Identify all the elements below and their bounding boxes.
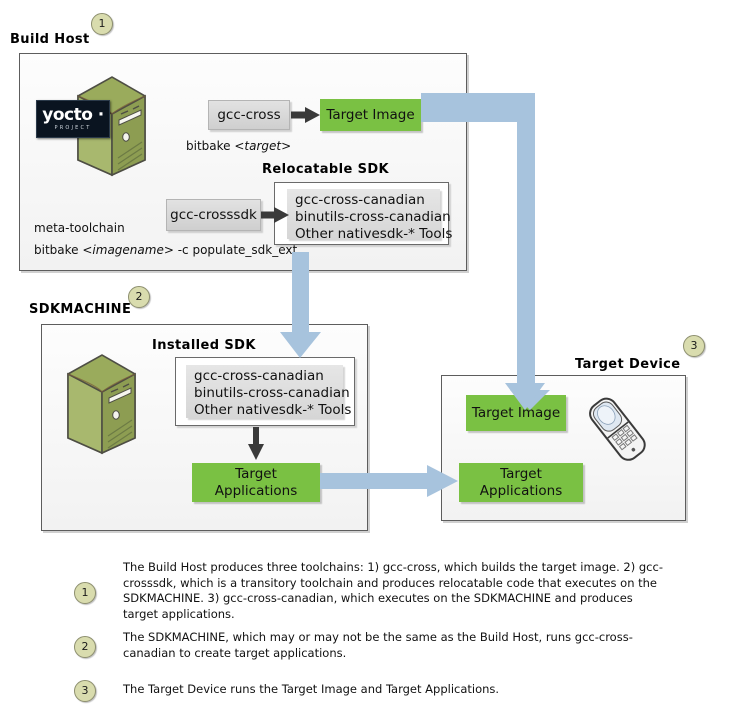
legend-badge-3: 3 — [74, 680, 96, 702]
legend-text-3: The Target Device runs the Target Image … — [123, 682, 678, 698]
badge-1-build-host: 1 — [91, 13, 113, 35]
bitbake-populate-caption: bitbake <imagename> -c populate_sdk_ext — [34, 243, 297, 257]
legend-badge-2: 2 — [74, 636, 96, 658]
yocto-logo-word: yocto · — [42, 107, 104, 124]
target-applications-box-device: Target Applications — [459, 463, 583, 502]
badge-2-sdkmachine: 2 — [128, 286, 150, 308]
target-device-title: Target Device — [575, 357, 681, 372]
diagram-canvas: Build Host 1 yocto · PROJECT gcc-cross T… — [0, 0, 730, 723]
bitbake-populate-italic: <imagename> — [82, 243, 174, 257]
installed-sdk-title: Installed SDK — [152, 338, 256, 353]
bitbake-populate-prefix: bitbake — [34, 243, 82, 257]
target-applications-box-sdkmachine: Target Applications — [192, 463, 320, 502]
yocto-logo-subtitle: PROJECT — [54, 125, 91, 132]
yocto-project-logo: yocto · PROJECT — [36, 100, 110, 138]
relocatable-sdk-list: gcc-cross-canadian binutils-cross-canadi… — [287, 189, 440, 239]
legend-text-1: The Build Host produces three toolchains… — [123, 560, 668, 622]
bitbake-target-caption: bitbake <target> — [186, 139, 291, 153]
installed-sdk-item-0: gcc-cross-canadian — [194, 368, 335, 385]
badge-3-target-device: 3 — [683, 335, 705, 357]
relocatable-sdk-item-1: binutils-cross-canadian — [295, 209, 432, 226]
installed-sdk-list: gcc-cross-canadian binutils-cross-canadi… — [186, 365, 343, 418]
bitbake-target-italic: <target> — [234, 139, 291, 153]
relocatable-sdk-item-2: Other nativesdk-* Tools — [295, 226, 432, 243]
relocatable-sdk-item-0: gcc-cross-canadian — [295, 192, 432, 209]
target-image-box-build-host: Target Image — [320, 99, 421, 131]
build-host-title: Build Host — [10, 32, 90, 47]
bitbake-target-prefix: bitbake — [186, 139, 234, 153]
relocatable-sdk-title: Relocatable SDK — [262, 162, 389, 177]
mobile-phone-icon — [582, 392, 654, 468]
legend-text-2: The SDKMACHINE, which may or may not be … — [123, 630, 678, 661]
installed-sdk-item-1: binutils-cross-canadian — [194, 385, 335, 402]
bitbake-populate-suffix: -c populate_sdk_ext — [174, 243, 297, 257]
gcc-cross-box: gcc-cross — [208, 100, 290, 130]
meta-toolchain-caption: meta-toolchain — [34, 221, 125, 235]
legend-badge-1: 1 — [74, 582, 96, 604]
server-tower-icon-sdkmachine — [62, 352, 140, 456]
gcc-crosssdk-box: gcc-crosssdk — [166, 199, 261, 231]
sdkmachine-title: SDKMACHINE — [29, 302, 131, 317]
target-image-box-device: Target Image — [466, 395, 566, 431]
installed-sdk-item-2: Other nativesdk-* Tools — [194, 402, 335, 419]
